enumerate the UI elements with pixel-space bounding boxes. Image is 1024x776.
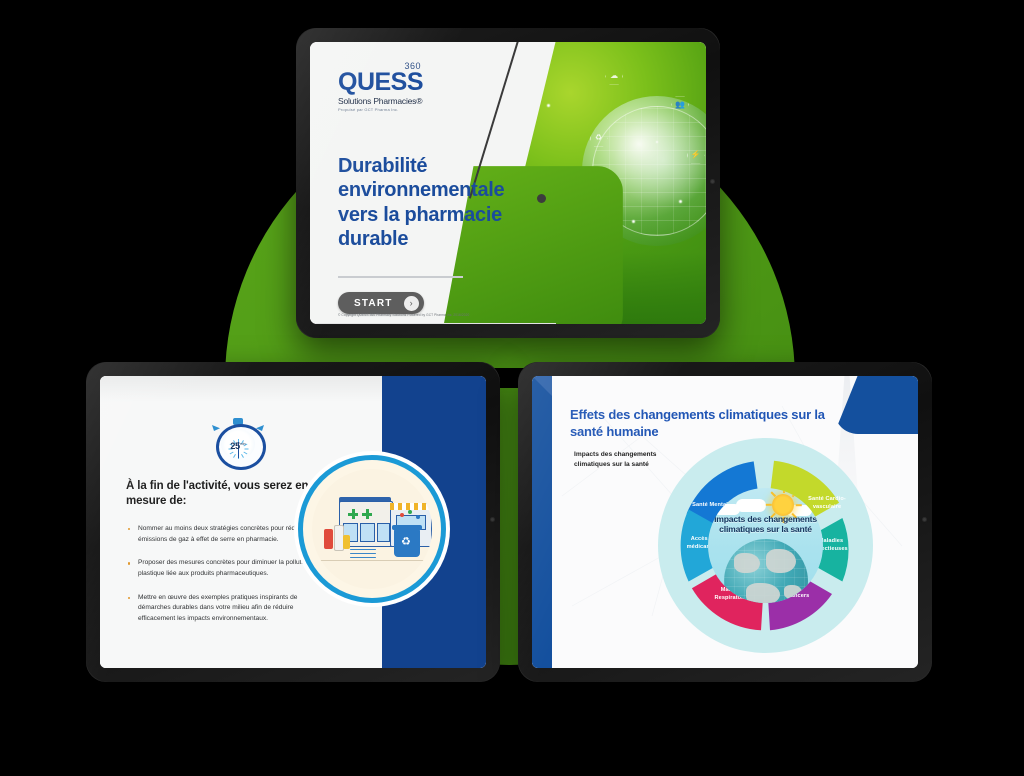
camera-dot	[711, 180, 714, 183]
start-button-label: START	[354, 298, 393, 309]
sun-icon	[772, 494, 794, 516]
quess-logo: 360 QUESS Solutions Pharmacies® Propulsé…	[338, 70, 423, 112]
slide-title: ♻ 👥 ☁ ✿ ▦ ⚡ 360 QUESS Solutions Pharm	[310, 42, 706, 324]
sustainable-pharmacy-illustration: ♻	[298, 455, 446, 603]
timer-unit: min	[240, 442, 246, 446]
slide-climate-health: Effets des changements climatiques sur l…	[532, 376, 918, 668]
chevron-right-icon: ›	[404, 296, 419, 311]
cloud-icon: ☁	[605, 67, 623, 85]
bullet-icon	[128, 528, 130, 530]
slide-objectives: 25min À la fin de l'activité, vous serez…	[100, 376, 486, 668]
tablet-top-screen[interactable]: ♻ 👥 ☁ ✿ ▦ ⚡ 360 QUESS Solutions Pharm	[310, 42, 706, 324]
scene-root: ♻ 👥 ☁ ✿ ▦ ⚡ 360 QUESS Solutions Pharm	[0, 0, 1024, 776]
earth-globe-icon	[724, 539, 808, 603]
tablet-bottom-right: Effets des changements climatiques sur l…	[518, 362, 932, 682]
camera-dot	[491, 518, 494, 521]
logo-superscript: 360	[405, 61, 422, 71]
panel-top-shade	[100, 376, 382, 402]
list-item: Proposer des mesures concrètes pour dimi…	[126, 558, 322, 579]
page-title: Effets des changements climatiques sur l…	[570, 406, 850, 441]
tablet-top: ♻ 👥 ☁ ✿ ▦ ⚡ 360 QUESS Solutions Pharm	[296, 28, 720, 338]
tablet-bottom-left: 25min À la fin de l'activité, vous serez…	[86, 362, 500, 682]
tablet-bottom-left-screen[interactable]: 25min À la fin de l'activité, vous serez…	[100, 376, 486, 668]
bullet-icon	[128, 597, 130, 599]
cloud-icon	[736, 499, 766, 512]
logo-subtagline: Propulsé par GCT Pharma Inc.	[338, 107, 423, 112]
donut-center-text: Impacts des changements climatiques sur …	[708, 515, 823, 535]
list-item: Nommer au moins deux stratégies concrète…	[126, 524, 322, 545]
headline-rule	[338, 276, 463, 278]
footer-divider	[310, 323, 556, 324]
start-button[interactable]: START ›	[338, 292, 424, 314]
camera-dot	[923, 518, 926, 521]
tablet-bottom-right-screen[interactable]: Effets des changements climatiques sur l…	[532, 376, 918, 668]
donut-center: Impacts des changements climatiques sur …	[708, 488, 823, 603]
stopwatch-icon: 25min	[214, 416, 262, 464]
list-item: Mettre en œuvre des exemples pratiques i…	[126, 593, 322, 625]
logo-tagline: Solutions Pharmacies®	[338, 96, 423, 106]
timer-value: 25min	[214, 441, 262, 451]
objectives-list: Nommer au moins deux stratégies concrète…	[126, 524, 322, 638]
climate-health-donut-chart: Santé Mental Accès aux médicaments Malad…	[658, 438, 873, 653]
bullet-icon	[128, 562, 130, 564]
slide-headline: Durabilité environnementale vers la phar…	[338, 154, 543, 252]
logo-wordmark: QUESS	[338, 70, 423, 95]
copyright-text: © Copyright QUESS 360 Pharmacy Solutions…	[338, 313, 469, 317]
